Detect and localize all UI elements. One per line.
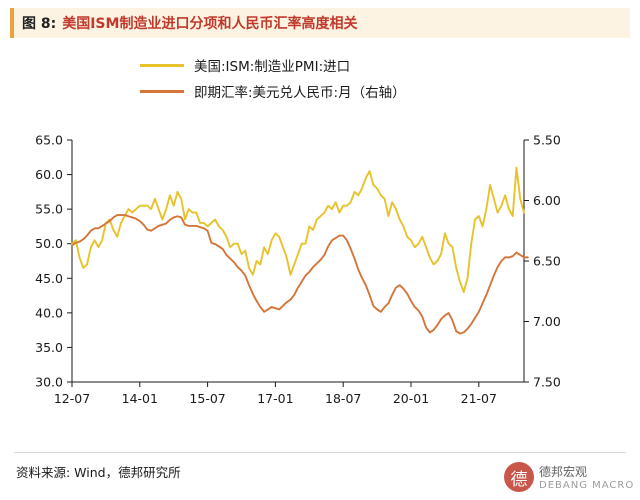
chart-axes bbox=[72, 140, 524, 382]
right-axis-ticks: 5.506.006.507.007.50 bbox=[524, 133, 561, 390]
legend-label-fx-rate: 即期汇率:美元兑人民币:月（右轴） bbox=[194, 81, 406, 101]
legend-label-import-pmi: 美国:ISM:制造业PMI:进口 bbox=[194, 55, 350, 75]
right-axis-tick-label: 7.50 bbox=[533, 375, 561, 390]
left-axis-tick-label: 35.0 bbox=[35, 340, 63, 355]
x-axis-tick-label: 18-07 bbox=[325, 391, 361, 406]
right-axis-tick-label: 6.00 bbox=[533, 193, 561, 208]
right-axis-tick-label: 7.00 bbox=[533, 314, 561, 329]
right-axis-tick-label: 6.50 bbox=[533, 254, 561, 269]
left-axis-tick-label: 50.0 bbox=[35, 236, 63, 251]
legend-swatch-import-pmi bbox=[140, 64, 184, 67]
left-axis-ticks: 30.035.040.045.050.055.060.065.0 bbox=[35, 133, 72, 390]
footer-divider bbox=[14, 452, 626, 453]
legend-item-fx-rate: 即期汇率:美元兑人民币:月（右轴） bbox=[140, 78, 540, 104]
left-axis-tick-label: 55.0 bbox=[35, 202, 63, 217]
title-accent-bar bbox=[10, 8, 14, 38]
legend-item-import-pmi: 美国:ISM:制造业PMI:进口 bbox=[140, 52, 540, 78]
x-axis-tick-label: 12-07 bbox=[54, 391, 90, 406]
figure-title-bar: 图 8: 美国ISM制造业进口分项和人民币汇率高度相关 bbox=[10, 8, 630, 38]
left-axis-tick-label: 65.0 bbox=[35, 133, 63, 148]
x-axis-tick-label: 21-07 bbox=[461, 391, 497, 406]
watermark: 德 德邦宏观 DEBANG MACRO bbox=[504, 460, 630, 494]
right-axis-tick-label: 5.50 bbox=[533, 133, 561, 148]
source-note: 资料来源: Wind，德邦研究所 bbox=[16, 462, 181, 481]
x-axis-tick-label: 14-01 bbox=[122, 391, 158, 406]
left-axis-tick-label: 40.0 bbox=[35, 305, 63, 320]
watermark-texts: 德邦宏观 DEBANG MACRO bbox=[539, 463, 634, 491]
legend-swatch-fx-rate bbox=[140, 90, 184, 93]
watermark-logo-icon: 德 bbox=[504, 462, 534, 492]
series-line-import-pmi bbox=[72, 168, 524, 292]
watermark-title: 德邦宏观 bbox=[539, 463, 634, 480]
watermark-subtitle: DEBANG MACRO bbox=[539, 480, 634, 491]
left-axis-tick-label: 60.0 bbox=[35, 167, 63, 182]
x-axis-tick-label: 15-07 bbox=[189, 391, 225, 406]
chart-svg: 30.035.040.045.050.055.060.065.0 5.506.0… bbox=[0, 120, 640, 420]
x-axis-tick-label: 17-01 bbox=[257, 391, 293, 406]
page-title: 美国ISM制造业进口分项和人民币汇率高度相关 bbox=[62, 13, 357, 33]
x-axis-tick-label: 20-01 bbox=[393, 391, 429, 406]
left-axis-tick-label: 30.0 bbox=[35, 375, 63, 390]
chart-legend: 美国:ISM:制造业PMI:进口 即期汇率:美元兑人民币:月（右轴） bbox=[140, 52, 540, 104]
left-axis-tick-label: 45.0 bbox=[35, 271, 63, 286]
chart-plot-area: 30.035.040.045.050.055.060.065.0 5.506.0… bbox=[0, 120, 640, 420]
x-axis-ticks: 12-0714-0115-0717-0118-0720-0121-07 bbox=[54, 382, 497, 406]
series-line-fx-rate bbox=[72, 215, 528, 334]
figure-label: 图 8: bbox=[22, 13, 56, 33]
